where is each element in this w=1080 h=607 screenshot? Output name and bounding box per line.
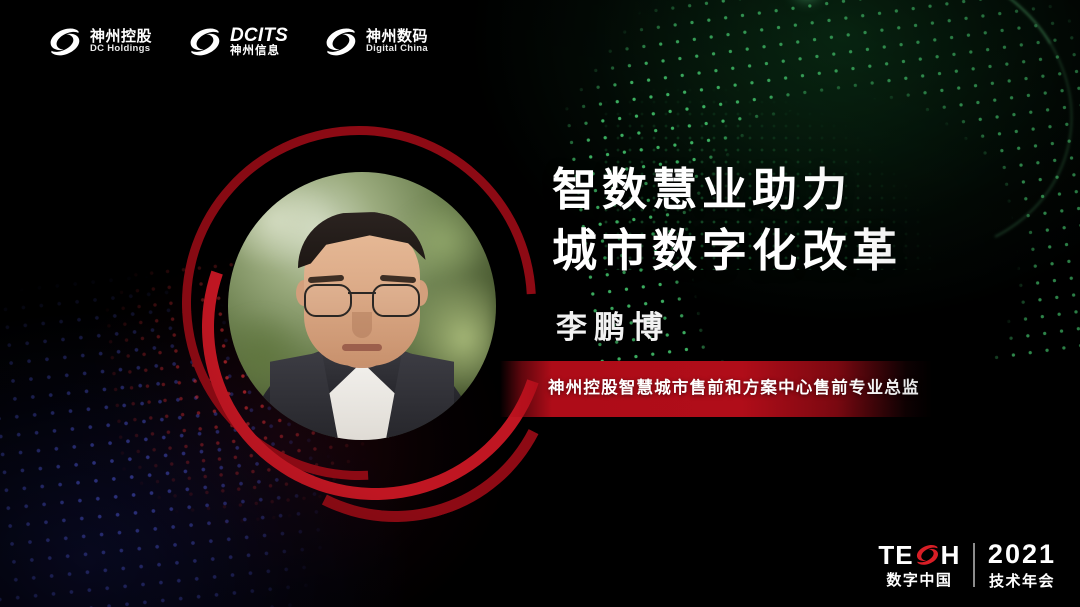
speaker-role: 神州控股智慧城市售前和方案中心售前专业总监 xyxy=(548,374,988,398)
glasses-icon xyxy=(304,284,420,314)
logo-en-text: DC Holdings xyxy=(90,44,152,54)
logo-cn-text: 神州信息 xyxy=(230,45,288,57)
tech-letter-t: T xyxy=(878,542,895,568)
logo-text: 神州数码 Digital China xyxy=(366,29,428,55)
event-brand-cn: 数字中国 xyxy=(886,573,952,588)
tech-letter-h: H xyxy=(941,542,961,568)
logo-text: DCITS 神州信息 xyxy=(230,26,288,57)
avatar xyxy=(228,172,496,440)
title-line-2: 城市数字化改革 xyxy=(552,221,902,282)
logo-en-text: Digital China xyxy=(366,44,428,54)
event-subtitle: 技术年会 xyxy=(989,574,1055,589)
event-logo-year-block: 2021 技术年会 xyxy=(988,541,1056,589)
logo-cn-text: 神州数码 xyxy=(366,29,428,45)
swirl-icon xyxy=(915,543,940,567)
logo-text: 神州控股 DC Holdings xyxy=(90,29,152,55)
corporate-logo-bar: 神州控股 DC Holdings DCITS 神州信息 xyxy=(48,26,428,57)
portrait-mouth xyxy=(342,344,382,351)
logo-digital-china: 神州数码 Digital China xyxy=(324,27,428,57)
swirl-icon xyxy=(324,27,358,57)
logo-en-text: DCITS xyxy=(230,26,288,45)
speaker-portrait-frame xyxy=(180,122,532,494)
event-logo: T E H 数字中国 2021 技术年会 xyxy=(878,541,1056,589)
tech-letter-e: E xyxy=(895,542,913,568)
slide-canvas: 神州控股 DC Holdings DCITS 神州信息 xyxy=(0,0,1080,607)
logo-cn-text: 神州控股 xyxy=(90,29,152,45)
logo-dc-holdings: 神州控股 DC Holdings xyxy=(48,27,152,57)
portrait-lens-right xyxy=(372,284,420,317)
tech-wordmark: T E H xyxy=(878,542,960,568)
speaker-name: 李鹏博 xyxy=(556,302,670,347)
portrait-nose xyxy=(352,312,372,338)
event-year: 2021 xyxy=(988,541,1056,568)
title-line-1: 智数慧业助力 xyxy=(552,160,902,221)
logo-dcits: DCITS 神州信息 xyxy=(188,26,288,57)
swirl-icon xyxy=(188,27,222,57)
swirl-icon xyxy=(48,27,82,57)
event-logo-divider xyxy=(973,543,975,587)
portrait-lens-left xyxy=(304,284,352,317)
page-title: 智数慧业助力 城市数字化改革 xyxy=(552,160,902,282)
event-logo-brand: T E H 数字中国 xyxy=(878,542,960,588)
